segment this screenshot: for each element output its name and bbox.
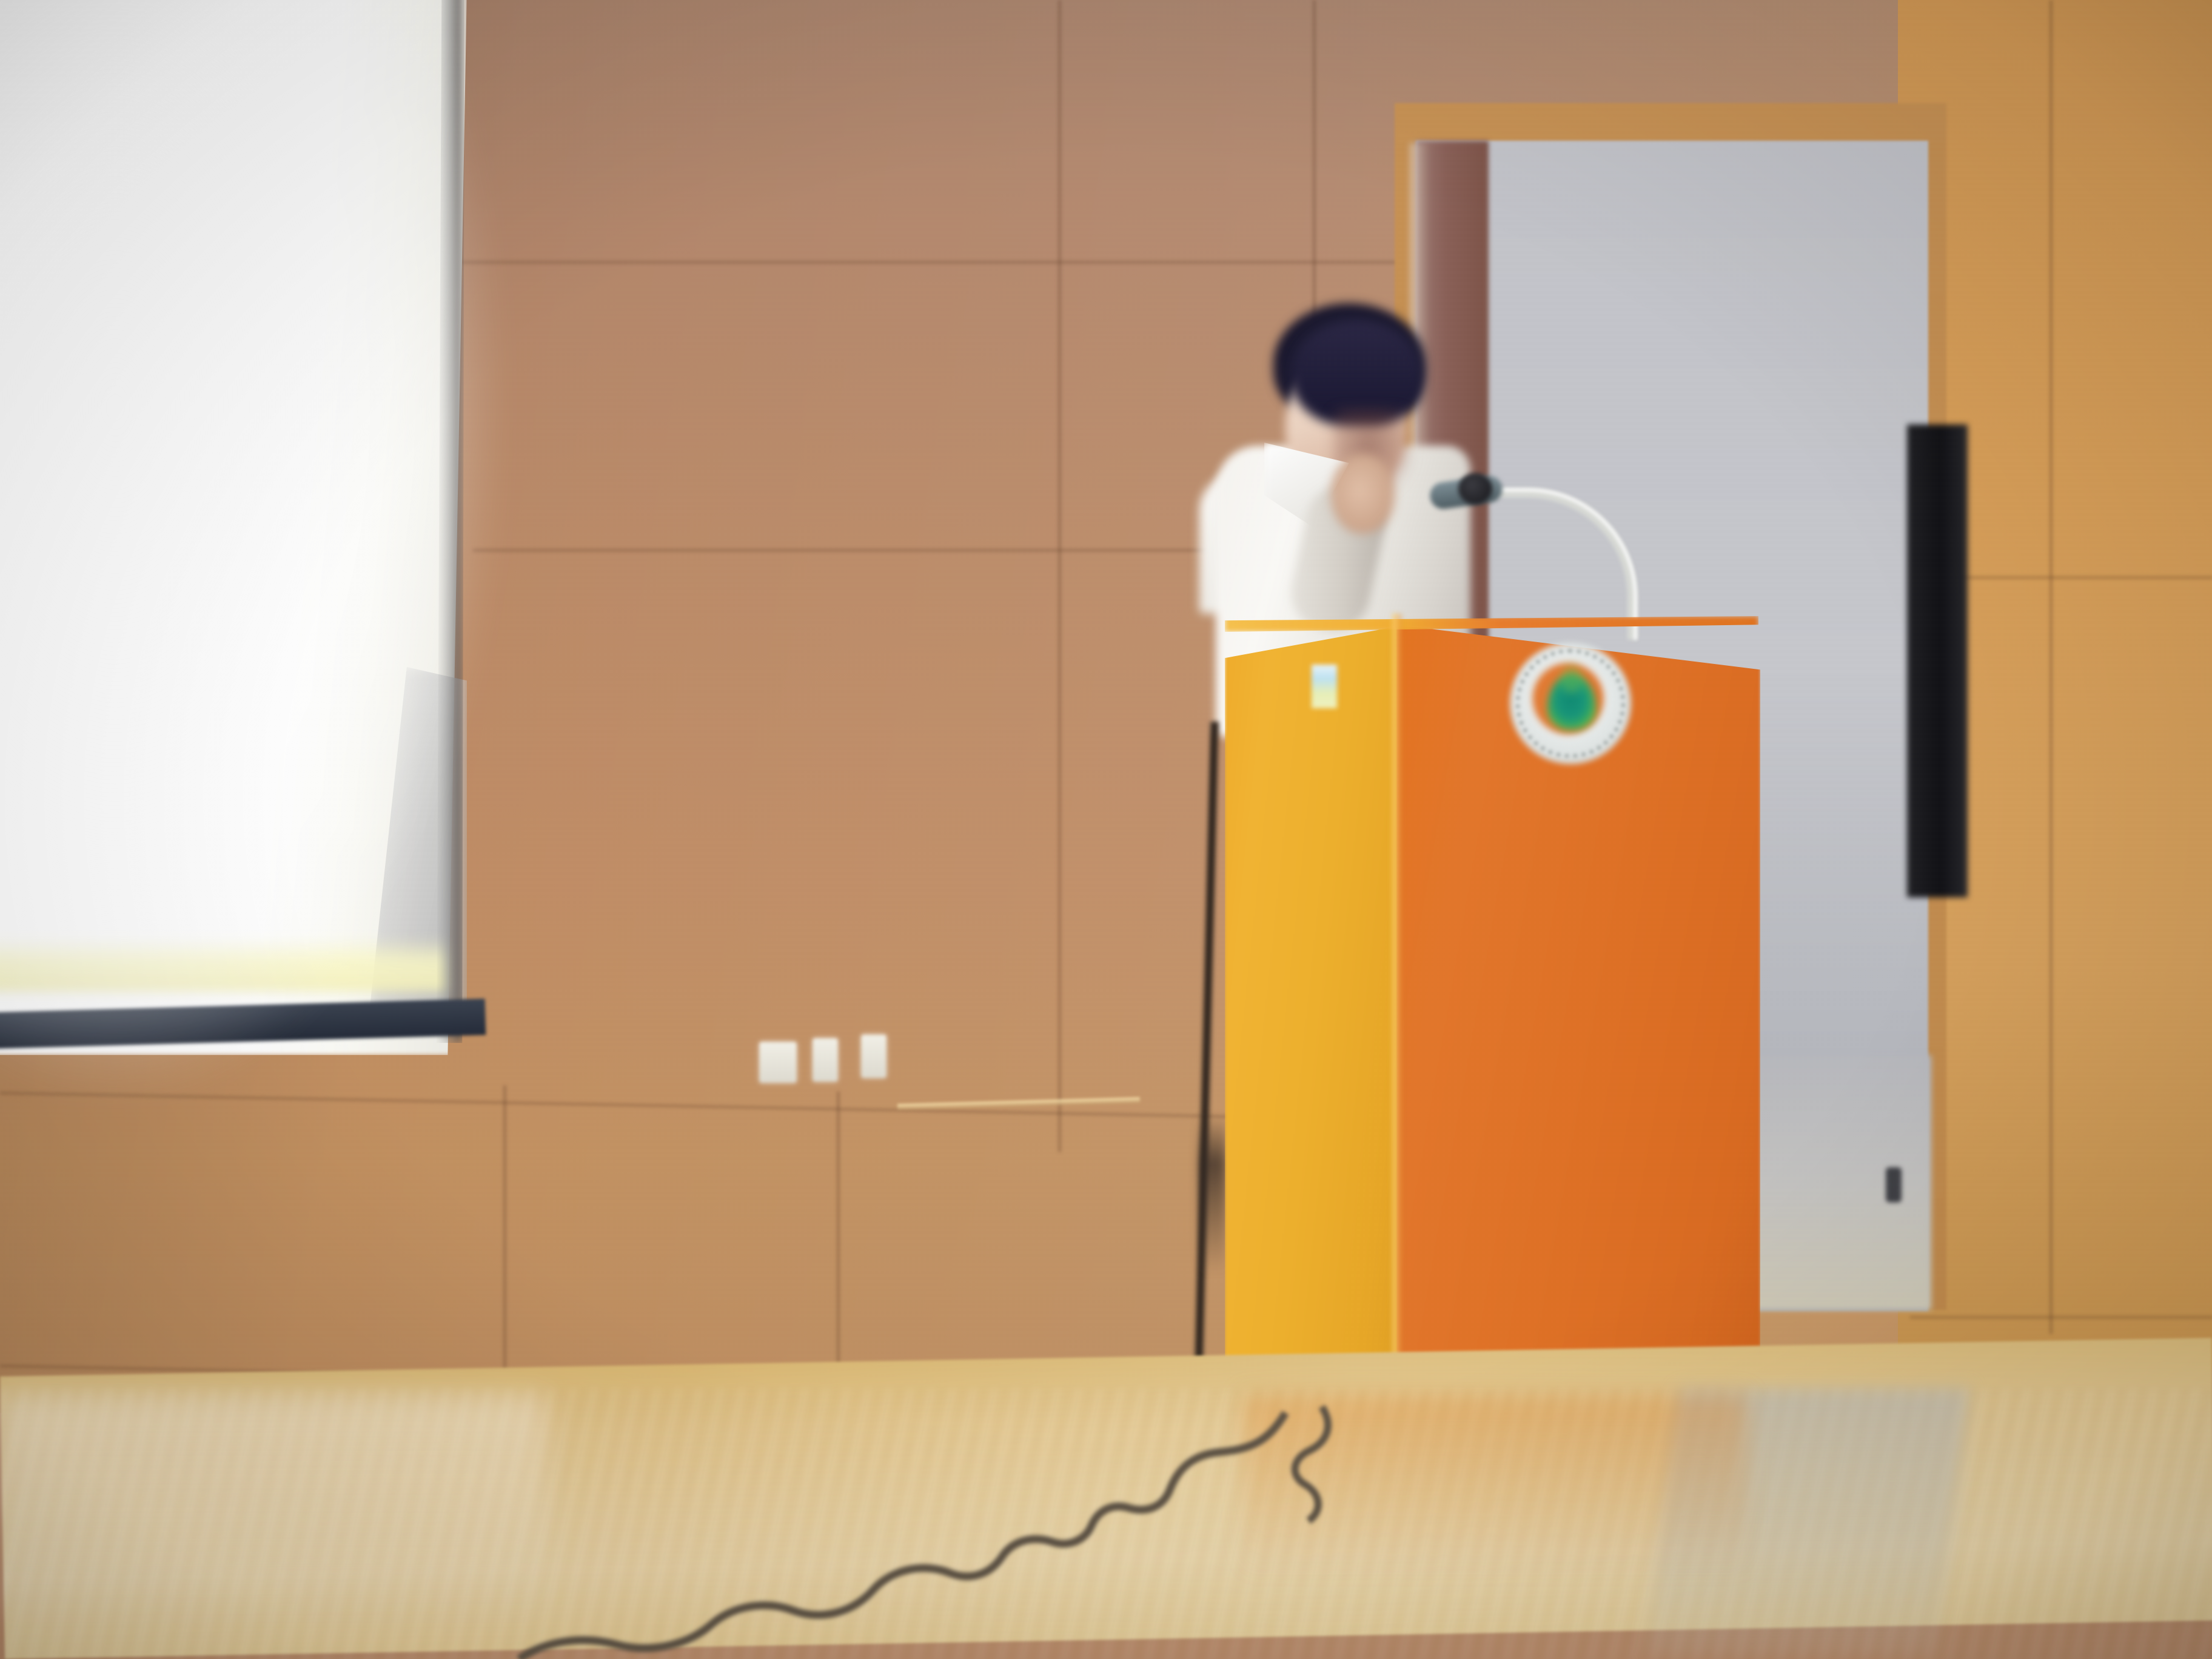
podium-top-edge <box>1225 616 1758 632</box>
podium-left-face <box>1225 626 1401 1432</box>
wall-seam-horizontal-5 <box>1910 1316 2212 1319</box>
presenter-hand <box>1331 455 1395 534</box>
pole-shadow <box>1199 1116 1226 1273</box>
wall-seam-vertical-1 <box>1058 0 1061 1152</box>
wall-plate-outlet-2[interactable] <box>861 1034 886 1078</box>
floor-reflection-screen <box>0 1395 546 1625</box>
floor-reflection-podium <box>1243 1395 1746 1577</box>
emblem-green-motif-tip <box>1561 665 1583 692</box>
door-stop <box>1886 1167 1902 1202</box>
wall-plate-outlet-1[interactable] <box>813 1038 838 1082</box>
wall-seam-vertical-3 <box>503 1085 506 1407</box>
photograph-scene: Speaker at orange podium in wood-panelle… <box>0 0 2212 1659</box>
podium-corner-highlight <box>1392 614 1402 1432</box>
podium-lectern <box>1225 612 1758 1443</box>
projection-screen-assembly <box>0 0 479 1079</box>
wall-seam-horizontal-1 <box>461 261 1407 264</box>
dark-panel-loudspeaker <box>1907 424 1968 897</box>
projection-screen-warm-band <box>0 937 449 991</box>
podium-emblem-seal <box>1510 643 1631 764</box>
podium-sticker-label <box>1312 665 1337 708</box>
wall-seam-vertical-4 <box>837 1091 840 1407</box>
microphone-capsule <box>1458 473 1492 504</box>
wall-plate-outlet-wide[interactable] <box>759 1042 797 1083</box>
wall-seam-vertical-5 <box>2049 0 2053 1334</box>
